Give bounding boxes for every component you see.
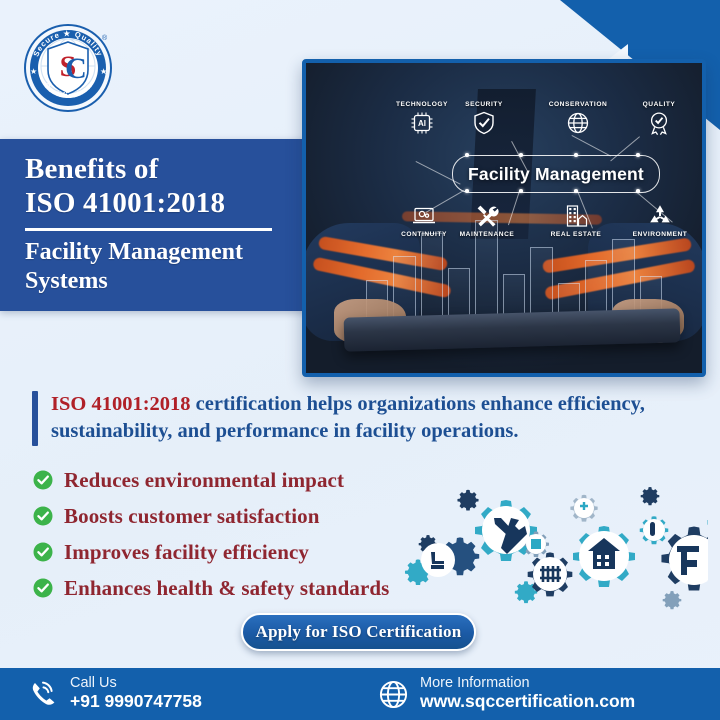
intro-paragraph: ISO 41001:2018 certification helps organ… <box>32 391 692 446</box>
list-item: Improves facility efficiency <box>33 534 453 570</box>
benefits-list: Reduces environmental impact Boosts cust… <box>33 462 453 606</box>
svg-text:®: ® <box>102 34 108 42</box>
cta-label: Apply for ISO Certification <box>256 622 462 642</box>
tools-icon <box>474 203 500 229</box>
globe-icon <box>378 679 409 710</box>
check-circle-icon <box>33 542 53 562</box>
headline-subtitle: Facility Management Systems <box>25 238 295 296</box>
company-logo: S C Secure ★ Quality Certification ★ ★ ® <box>22 22 114 114</box>
footer-web-block[interactable]: More Information www.sqccertification.co… <box>378 676 635 713</box>
facility-gears-illustration <box>398 452 708 612</box>
benefit-label: Reduces environmental impact <box>64 468 344 493</box>
list-item: Enhances health & safety standards <box>33 570 453 606</box>
shield-check-icon <box>471 110 497 136</box>
apply-certification-button[interactable]: Apply for ISO Certification <box>241 613 476 651</box>
call-number: +91 9990747758 <box>70 691 202 712</box>
benefit-label: Boosts customer satisfaction <box>64 504 320 529</box>
info-label: ENVIRONMENT <box>622 231 698 238</box>
award-badge-icon <box>646 110 672 136</box>
recycle-icon <box>647 203 673 229</box>
web-label: More Information <box>420 676 635 692</box>
list-item: Reduces environmental impact <box>33 462 453 498</box>
footer-call-block[interactable]: Call Us +91 9990747758 <box>28 676 368 713</box>
check-circle-icon <box>33 578 53 598</box>
benefit-label: Improves facility efficiency <box>64 540 309 565</box>
svg-text:★: ★ <box>30 67 37 76</box>
svg-text:AI: AI <box>418 119 426 128</box>
check-circle-icon <box>33 470 53 490</box>
headline-divider <box>25 228 272 231</box>
info-label: MAINTENANCE <box>446 231 528 238</box>
quote-text: ISO 41001:2018 certification helps organ… <box>51 391 692 446</box>
info-label: SECURITY <box>446 101 522 108</box>
call-label: Call Us <box>70 676 202 692</box>
headline-line-2: ISO 41001:2018 <box>25 187 295 221</box>
info-node-conservation: CONSERVATION <box>538 101 618 136</box>
info-node-quality: QUALITY <box>624 101 694 136</box>
svg-text:★: ★ <box>100 67 107 76</box>
headline-line-1: Benefits of <box>25 153 295 187</box>
globe-icon <box>565 110 591 136</box>
web-url: www.sqccertification.com <box>420 691 635 712</box>
info-node-real-estate: REAL ESTATE <box>536 203 616 238</box>
headline-panel: Benefits of ISO 41001:2018 Facility Mana… <box>0 139 311 311</box>
quote-accent-bar <box>32 391 38 446</box>
footer-bar: Call Us +91 9990747758 More Information … <box>0 668 720 720</box>
benefit-label: Enhances health & safety standards <box>64 576 389 601</box>
quote-highlight: ISO 41001:2018 <box>51 393 191 415</box>
poster-canvas: S C Secure ★ Quality Certification ★ ★ ®… <box>0 0 720 720</box>
phone-ring-icon <box>28 679 59 710</box>
svg-text:C: C <box>65 52 87 85</box>
info-label: CONSERVATION <box>538 101 618 108</box>
list-item: Boosts customer satisfaction <box>33 498 453 534</box>
info-node-maintenance: MAINTENANCE <box>446 203 528 238</box>
facility-management-pill: Facility Management <box>452 155 660 193</box>
hero-photo-card: TECHNOLOGY AI SECURITY <box>302 59 706 377</box>
check-circle-icon <box>33 506 53 526</box>
info-node-environment: ENVIRONMENT <box>622 203 698 238</box>
laptop-icon <box>411 203 437 229</box>
info-label: REAL ESTATE <box>536 231 616 238</box>
infographic-overlay: TECHNOLOGY AI SECURITY <box>306 63 702 373</box>
building-icon <box>563 203 589 229</box>
info-label: QUALITY <box>624 101 694 108</box>
info-node-security: SECURITY <box>446 101 522 136</box>
ai-chip-icon: AI <box>409 110 435 136</box>
